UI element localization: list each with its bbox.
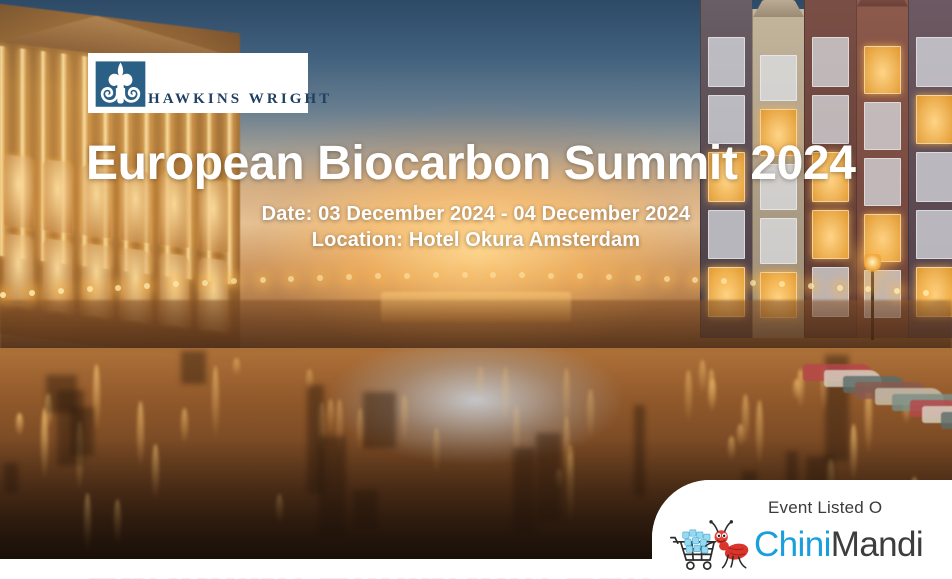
event-banner: HAWKINS WRIGHT European Biocarbon Summit…: [0, 0, 952, 579]
ant-pushing-sugar-cart-icon: [668, 518, 752, 574]
event-date: Date: 03 December 2024 - 04 December 202…: [0, 203, 952, 226]
boat: [941, 412, 952, 429]
hawkins-wright-wordmark: HAWKINS WRIGHT: [148, 91, 334, 113]
brand-mandi: Mandi: [831, 525, 923, 564]
page-title: European Biocarbon Summit 2024: [86, 139, 876, 190]
fleur-de-lis-icon: [93, 56, 148, 110]
event-location: Location: Hotel Okura Amsterdam: [0, 229, 952, 252]
hawkins-wright-logo: HAWKINS WRIGHT: [88, 53, 308, 113]
chinimandi-logo[interactable]: ChiniMandi: [668, 518, 923, 574]
chinimandi-wordmark: ChiniMandi: [754, 527, 923, 565]
badge-eyebrow-text: Event Listed O: [768, 498, 882, 518]
brand-chini: Chini: [754, 525, 831, 564]
canal-lamps: [0, 262, 952, 308]
event-listed-badge: Event Listed O: [652, 480, 952, 579]
